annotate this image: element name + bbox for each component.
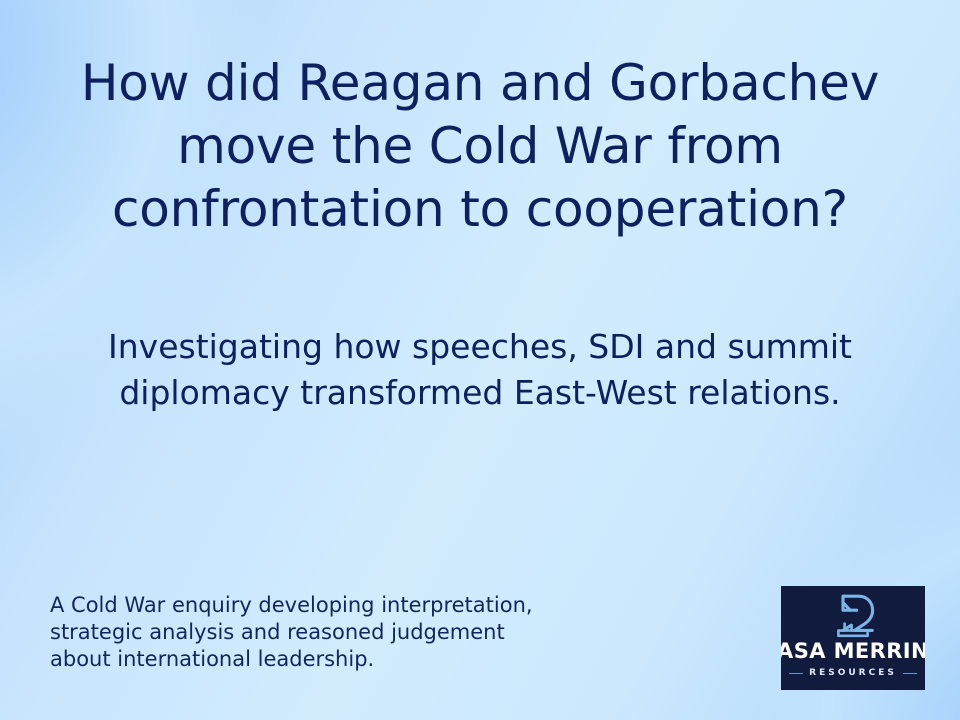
subtitle-line-2: diplomacy transformed East-West relation… xyxy=(38,370,922,416)
slide-subtitle: Investigating how speeches, SDI and summ… xyxy=(38,324,922,416)
title-line-3: confrontation to cooperation? xyxy=(38,178,922,241)
footer-line-2: strategic analysis and reasoned judgemen… xyxy=(50,619,750,646)
footer-line-1: A Cold War enquiry developing interpreta… xyxy=(50,592,750,619)
title-line-2: move the Cold War from xyxy=(38,115,922,178)
slide-title: How did Reagan and Gorbachev move the Co… xyxy=(38,52,922,241)
logo-rule-right xyxy=(903,673,917,674)
chess-knight-icon xyxy=(827,592,879,639)
brand-logo: ASA MERRIN RESOURCES xyxy=(781,586,925,690)
subtitle-line-1: Investigating how speeches, SDI and summ… xyxy=(38,324,922,370)
logo-tagline-row: RESOURCES xyxy=(789,668,917,678)
slide-footer-note: A Cold War enquiry developing interpreta… xyxy=(50,592,750,673)
presentation-slide: How did Reagan and Gorbachev move the Co… xyxy=(0,0,960,720)
title-line-1: How did Reagan and Gorbachev xyxy=(38,52,922,115)
logo-tagline: RESOURCES xyxy=(803,668,903,678)
footer-line-3: about international leadership. xyxy=(50,646,750,673)
logo-wordmark: ASA MERRIN xyxy=(781,640,925,663)
logo-rule-left xyxy=(789,673,803,674)
